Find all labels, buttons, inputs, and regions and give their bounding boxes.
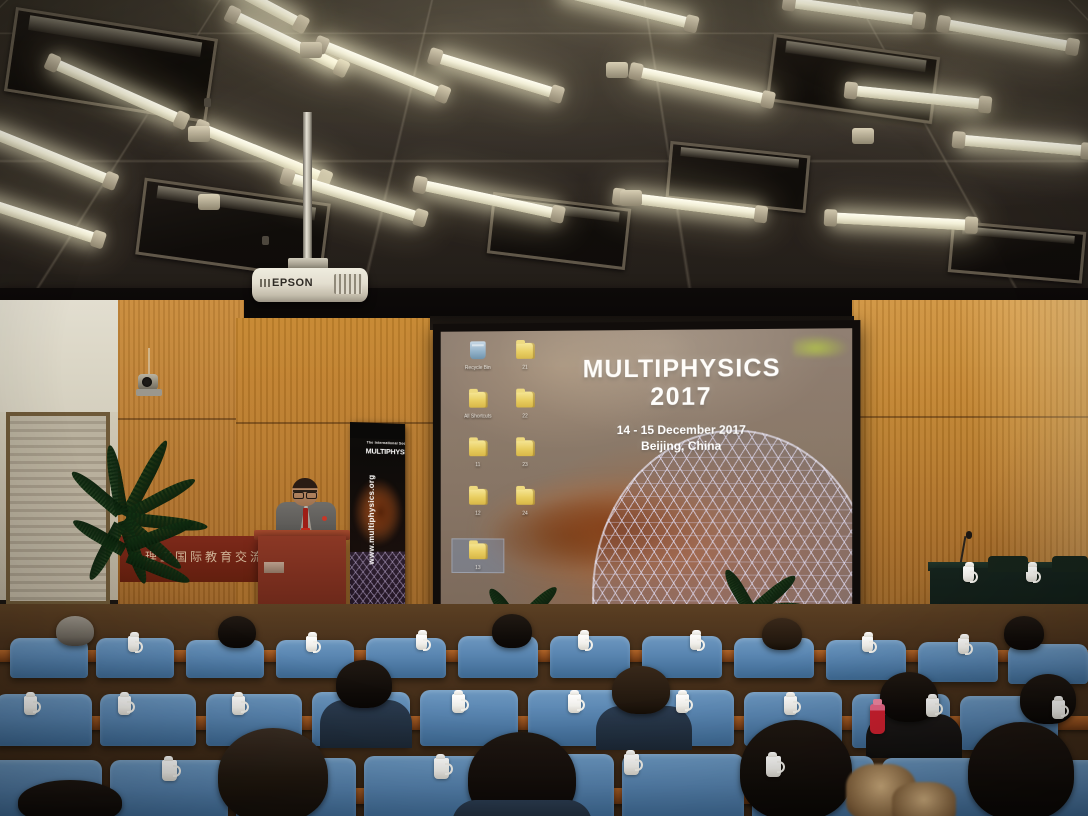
mesh-green-highlight bbox=[793, 334, 850, 357]
attendee-head bbox=[56, 616, 94, 646]
attendee-shoulders bbox=[452, 800, 592, 816]
water-bottle bbox=[870, 704, 885, 734]
projection-screen: Recycle Bin 21 All Shortcuts 22 11 bbox=[441, 328, 852, 628]
auditorium-seat bbox=[100, 694, 196, 746]
banner-swirl-graphic bbox=[352, 464, 405, 560]
attendee-head bbox=[218, 728, 328, 816]
projector-vent-icon bbox=[334, 274, 362, 294]
head-table-chair bbox=[1052, 556, 1088, 572]
projection-screen-frame: Recycle Bin 21 All Shortcuts 22 11 bbox=[433, 320, 860, 636]
slide-title-line2: 2017 bbox=[530, 384, 836, 411]
ceiling-projector: EPSON bbox=[252, 268, 368, 302]
projector-mount-pole bbox=[303, 112, 312, 264]
teacup bbox=[578, 634, 589, 650]
speaker-lanyard bbox=[303, 508, 308, 530]
folder-icon bbox=[452, 436, 503, 462]
projector-brand-label: EPSON bbox=[272, 277, 313, 289]
attendee-head bbox=[968, 722, 1074, 816]
desktop-icon-grid: Recycle Bin 21 All Shortcuts 22 11 bbox=[452, 339, 562, 340]
teacup bbox=[416, 634, 427, 650]
attendee-head bbox=[336, 660, 392, 708]
desktop-icon-label: 13 bbox=[452, 565, 503, 572]
conference-hall-photo: 理工国际教育交流大厦 EPSON Recycle Bin 21 bbox=[0, 0, 1088, 816]
recycle-bin-icon bbox=[452, 339, 503, 365]
light-fixture-base bbox=[188, 126, 210, 142]
light-fixture-base bbox=[852, 128, 874, 144]
auditorium-seat bbox=[0, 694, 92, 746]
teacup bbox=[958, 638, 969, 654]
teacup bbox=[452, 694, 465, 713]
slide-title: MULTIPHYSICS 2017 bbox=[530, 355, 836, 411]
teacup bbox=[1052, 700, 1065, 719]
ceiling bbox=[0, 0, 1088, 318]
camera-bracket bbox=[136, 389, 162, 396]
fur-hood bbox=[892, 782, 956, 816]
window-upper-panel bbox=[0, 300, 122, 412]
teacup bbox=[568, 694, 581, 713]
desktop-icon[interactable]: 11 bbox=[452, 436, 503, 469]
banner-top-rail bbox=[350, 422, 405, 440]
teacup bbox=[690, 634, 701, 650]
glasses-icon bbox=[293, 490, 317, 498]
podium-plaque bbox=[264, 562, 284, 573]
projector-grill-icon bbox=[260, 279, 270, 287]
teacup bbox=[162, 760, 177, 781]
banner-url: www.multiphysics.org bbox=[367, 459, 376, 580]
light-fixture-base bbox=[606, 62, 628, 78]
slide-subtitle-location: Beijing, China bbox=[530, 437, 836, 454]
folder-icon bbox=[452, 388, 503, 414]
desktop-icon-label: All Shortcuts bbox=[452, 414, 503, 421]
slide-title-line1: MULTIPHYSICS bbox=[583, 354, 781, 383]
attendee-head bbox=[612, 666, 670, 714]
slide-subtitle-dates: 14 - 15 December 2017 bbox=[530, 421, 836, 438]
attendee-head bbox=[1004, 616, 1044, 650]
folder-icon bbox=[499, 485, 550, 511]
attendee-head bbox=[740, 720, 852, 816]
attendee-head bbox=[492, 614, 532, 648]
desktop-icon-label: 24 bbox=[499, 511, 550, 518]
desktop-icon-label: 23 bbox=[499, 462, 550, 469]
folder-icon bbox=[452, 539, 503, 565]
desktop-icon-selected[interactable]: 13 bbox=[452, 539, 503, 572]
teacup bbox=[963, 566, 974, 582]
desktop-icon-label: 11 bbox=[452, 462, 503, 469]
camera-cable bbox=[148, 348, 150, 376]
speaker-lapel-pin-icon bbox=[322, 516, 327, 521]
teacup bbox=[766, 756, 781, 777]
teacup bbox=[624, 754, 639, 775]
desktop-icon-label: Recycle Bin bbox=[452, 365, 503, 372]
rollup-banner: The International Society of MULTIPHYSIC… bbox=[350, 422, 405, 634]
light-fixture-base bbox=[300, 42, 322, 58]
teacup bbox=[434, 758, 449, 779]
teacup bbox=[676, 694, 689, 713]
teacup bbox=[926, 698, 939, 717]
attendee-head bbox=[1020, 674, 1076, 724]
desktop-icon-label: 22 bbox=[499, 413, 550, 420]
camera-lens-icon bbox=[142, 377, 152, 387]
teacup bbox=[128, 636, 139, 652]
head-table-chair bbox=[988, 556, 1028, 572]
window-blind bbox=[6, 412, 110, 605]
light-fixture-base bbox=[620, 190, 642, 206]
audience-seating bbox=[0, 604, 1088, 816]
attendee-head bbox=[18, 780, 122, 816]
desktop-icon[interactable]: 12 bbox=[452, 485, 503, 518]
teacup bbox=[118, 696, 131, 715]
banner-org-name: MULTIPHYSICS bbox=[366, 446, 405, 456]
teacup bbox=[306, 636, 317, 652]
microphone-icon bbox=[966, 531, 972, 539]
attendee-head bbox=[762, 618, 802, 650]
teacup bbox=[862, 636, 873, 652]
desktop-icon[interactable]: 24 bbox=[499, 485, 550, 518]
sprinkler-head bbox=[204, 98, 211, 107]
slide-subtitle: 14 - 15 December 2017 Beijing, China bbox=[530, 421, 836, 454]
teacup bbox=[784, 696, 797, 715]
teacup bbox=[232, 696, 245, 715]
desktop-icon[interactable]: Recycle Bin bbox=[452, 339, 503, 372]
teacup bbox=[24, 696, 37, 715]
wall-panel-left bbox=[118, 300, 244, 650]
banner-society-line: The International Society of bbox=[367, 441, 405, 446]
attendee-head bbox=[218, 616, 256, 648]
desktop-icon[interactable]: All Shortcuts bbox=[452, 388, 503, 421]
sprinkler-head bbox=[262, 236, 269, 245]
folder-icon bbox=[452, 485, 503, 511]
light-fixture-base bbox=[198, 194, 220, 210]
desktop-icon-label: 12 bbox=[452, 511, 503, 518]
